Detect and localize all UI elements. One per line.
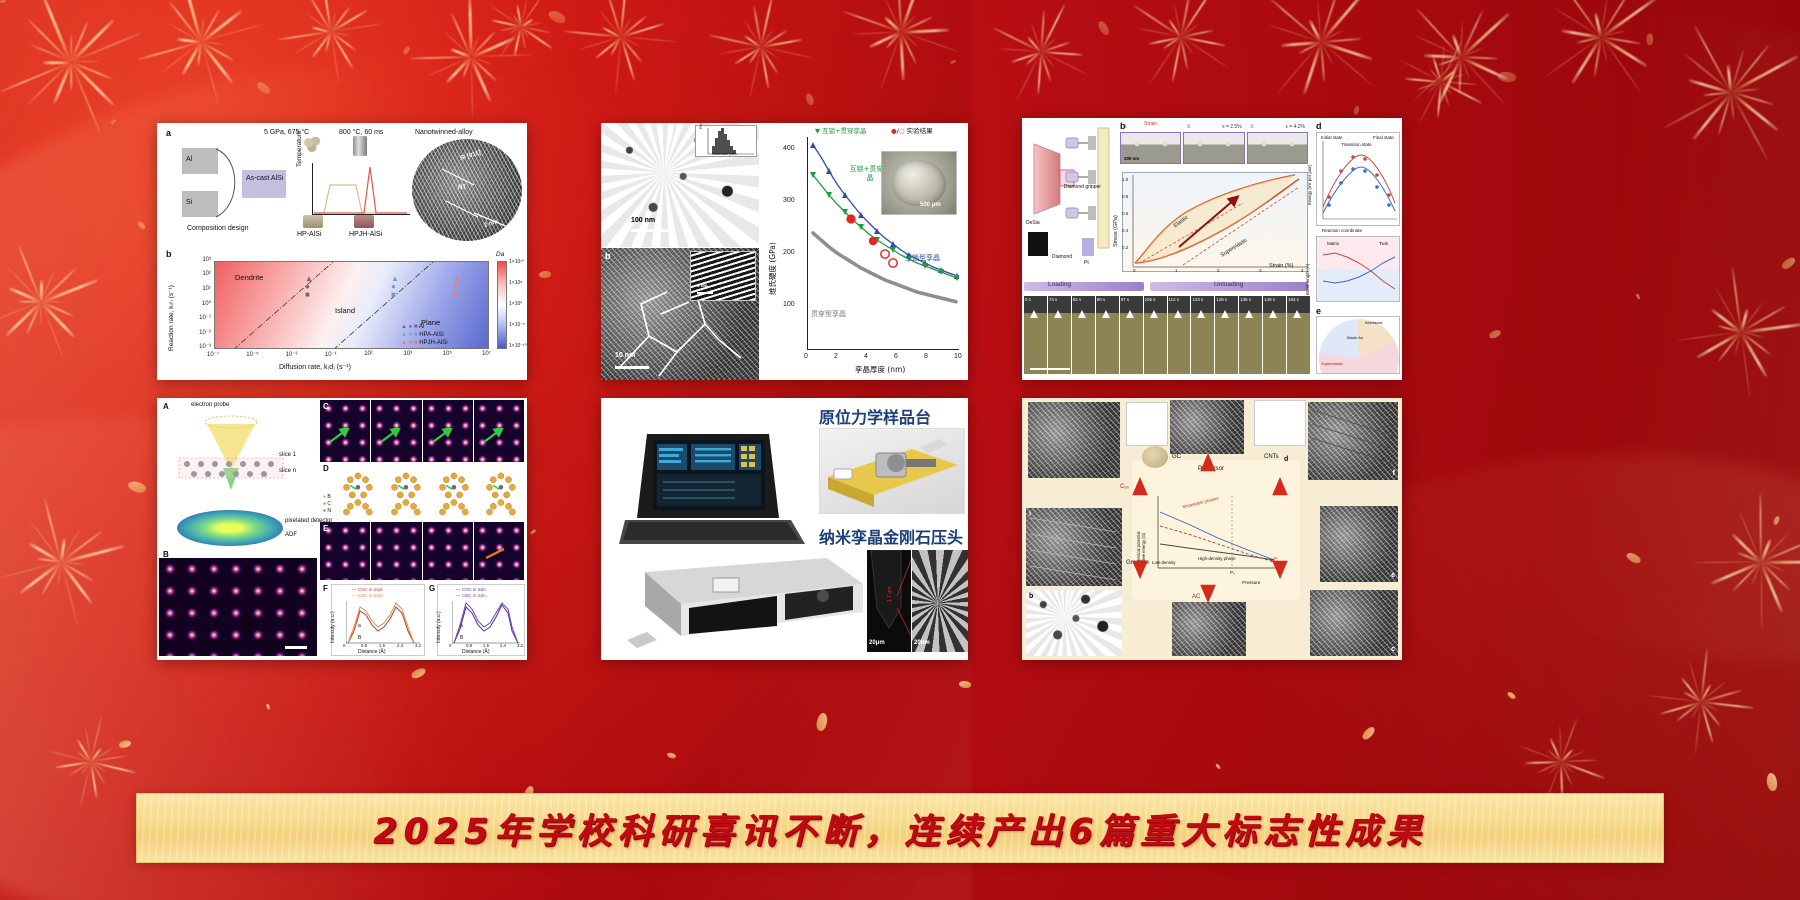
crystal-shape — [892, 160, 946, 206]
legend-N: N — [327, 508, 331, 514]
phase-map-ylabel: Reaction rate, k₍r₎ (s⁻¹) — [167, 285, 175, 351]
ss-yticks-tick: 0.8 — [1122, 194, 1128, 199]
inset-scalebar — [697, 292, 713, 294]
profile-F-ylabel: Intensity (a.u.) — [330, 611, 336, 643]
pm-xticks-tick: 10⁵ — [443, 351, 452, 357]
cyan-lines-overlay — [1026, 508, 1122, 586]
figure-tag-e: e — [1316, 306, 1321, 316]
panel-insitu-diamond-strain[interactable]: Diamond gripper Diamond DeSia Pt b ①200 … — [1022, 118, 1402, 380]
energy-xlabel: Reaction coordinate — [1322, 228, 1362, 233]
tem-image-grains: 100 nm Percentage Grain size — [601, 123, 759, 247]
micrograph-bottom-left: b — [1026, 590, 1122, 656]
label-diamond: Diamond — [1052, 254, 1072, 260]
pm-xticks-tick: 10⁷ — [482, 351, 491, 357]
hard-yticks-tick: 100 — [783, 301, 795, 308]
legend-hpa: ▲ ● ■ HPA-AlSi — [401, 332, 444, 338]
figure-tag-B: B — [163, 550, 169, 559]
label-matrix: Matrix — [1327, 241, 1339, 246]
label-slice-1: slice 1 — [279, 452, 296, 458]
label-desia: DeSia — [1026, 220, 1040, 226]
loading-arrow — [1024, 282, 1144, 291]
state-initial: Initial state — [1321, 135, 1343, 140]
g-xticks-tick: 0 — [449, 643, 451, 648]
time-frame: 149 s — [1263, 296, 1286, 374]
energy-curves — [1317, 133, 1401, 227]
micrograph-top-left — [1028, 402, 1120, 478]
legend-hpjh-text: HPJH-AlSi — [419, 340, 447, 346]
pixelated-detector-image — [177, 510, 283, 546]
strain-frame: ③ε = 4.2% — [1247, 132, 1308, 164]
time-frame: 123 s — [1191, 296, 1214, 374]
pm-xticks-tick: 10³ — [404, 351, 413, 357]
f-xticks-tick: 0.8 — [361, 643, 367, 648]
tem-scalebar-100nm — [631, 229, 669, 232]
ss-xticks-tick: 2 — [1217, 268, 1220, 273]
time-frame: 90 s — [1096, 296, 1119, 374]
sub-tag-f: f — [1393, 470, 1395, 477]
hp-alsi-pellet-icon — [303, 215, 323, 228]
annotation-F-a: a — [358, 623, 361, 629]
hp-alsi-label: HP-AlSi — [297, 231, 322, 238]
sem-surface-image: 20nm — [912, 550, 968, 652]
panel-insitu-mechanical-stage[interactable]: 原位力学样品台 纳米孪晶金刚石压头 — [601, 398, 968, 660]
micrograph-top-center — [1170, 400, 1244, 454]
polar-label-superelastic: Superelastic — [1321, 361, 1343, 366]
stage-photo — [819, 428, 965, 514]
title-insitu-stage: 原位力学样品台 — [819, 404, 931, 428]
molecule-cell-D — [480, 467, 524, 519]
label-as-cast-alsi: As-cast AlSi — [246, 174, 283, 183]
profile-chart-G: — CVC in Sim. — CBC in Sim. a B Intensit… — [437, 584, 525, 656]
time-frame: 74 s — [1048, 296, 1071, 374]
cb-ticks-tick: 1×10⁻⁵ — [509, 322, 525, 328]
strain-frame-scale: 200 nm — [1124, 156, 1139, 161]
temperature-profile-curves — [312, 163, 412, 215]
panel-nanotwin-hardness[interactable]: 100 nm Percentage Grain size — [601, 123, 968, 380]
profile-F-xlabel: Distance (Å) — [358, 649, 386, 655]
strain-frame: ①200 nm — [1120, 132, 1181, 164]
lattice-cell-C — [371, 400, 421, 462]
lattice-cell-E — [423, 522, 473, 580]
transform-arrows — [1118, 454, 1308, 604]
ss-xticks-tick: 4 — [1301, 268, 1304, 273]
marker-cluster-hpjh: ▲●■ — [453, 275, 461, 299]
sub-tag-d: d — [1284, 456, 1288, 463]
pm-xticks-tick: 10¹ — [364, 351, 373, 357]
box-al: Al — [182, 148, 218, 174]
time-frame: 112 s — [1168, 296, 1191, 374]
polar-label-interfacial: Interfacial — [1365, 320, 1382, 325]
state-final: Final state — [1373, 135, 1394, 140]
figure-tag-E: E — [323, 524, 328, 533]
legend-al: ▲ ● ■ Al — [401, 324, 424, 330]
legend-red-entry: ●/○ 实验结果 — [891, 125, 933, 135]
pm-yticks-tick: 10⁻² — [193, 329, 211, 336]
strain-frame-row: ①200 nm②ε = 2.5%③ε = 4.2%Strain — [1120, 132, 1310, 164]
powder-icon — [302, 137, 324, 153]
pm-yticks-tick: 10¹ — [193, 286, 211, 292]
label-electron-probe: electron probe — [191, 402, 229, 408]
ss-xticks-tick: 0 — [1133, 268, 1136, 273]
ss-xticks-tick: 3 — [1259, 268, 1262, 273]
label-loading: Loading — [1048, 281, 1071, 288]
label-twin: Twin — [1379, 241, 1388, 246]
marker-cluster-al: ▲●■ — [305, 275, 313, 299]
lattice-row-E — [320, 522, 524, 580]
figure-tag-D: D — [323, 464, 329, 473]
legend-green-text: 互锁+贯穿孪晶 — [822, 127, 866, 135]
sub-tag-i: i — [1029, 511, 1031, 518]
hpjh-alsi-label: HPJH-AlSi — [349, 231, 382, 238]
pm-xticks-tick: 10⁻¹ — [325, 351, 337, 358]
hard-yticks-tick: 200 — [783, 249, 795, 256]
grain-size-histogram-inset: Percentage Grain size (nm) — [695, 125, 757, 157]
ss-yticks-tick: 0.2 — [1122, 245, 1128, 250]
label-diamond-gripper: Diamond gripper — [1064, 184, 1101, 190]
svg-text:1.7 μm: 1.7 μm — [887, 587, 893, 602]
legend-G-cbc: CBC in Sim. — [462, 593, 487, 598]
legend-hpjh: ▲ ● ■ HPJH-AlSi — [401, 340, 448, 346]
ss-yticks-tick: 0.6 — [1122, 211, 1128, 216]
figure-tag-b: b — [166, 249, 172, 259]
time-frame: 128 s — [1215, 296, 1238, 374]
cb-ticks-tick: 1×10⁵ — [509, 280, 522, 286]
hrtem-scale-10nm-label: 10 nm — [615, 352, 635, 359]
box-si: Si — [182, 191, 218, 217]
red-lines-overlay-tr — [1308, 402, 1398, 480]
chart-ylabel: 维氏硬度 (GPa) — [767, 242, 778, 295]
molecule-row-D — [337, 464, 524, 522]
f-xticks-tick: 3.2 — [415, 643, 421, 648]
strain-frame: ②ε = 2.5% — [1183, 132, 1244, 164]
phase-map-xlabel: Diffusion rate, k₍d₎ (s⁻¹) — [279, 363, 351, 371]
profile-G-ylabel: Intensity (a.u.) — [436, 611, 442, 643]
figure-tag-d: d — [1316, 121, 1322, 131]
annotation-G-a: a — [460, 623, 463, 629]
time-frame: 97 s — [1120, 296, 1143, 374]
hard-xticks-tick: 2 — [834, 353, 838, 360]
lattice-row-C — [320, 400, 524, 462]
legend-green-entry: ▼ 互锁+贯穿孪晶 — [815, 125, 867, 135]
phase-map-plot: Dendrite Island Plane ▲●■ ▲●■ ▲●■ ▲ ● ■ … — [214, 261, 489, 349]
f-xticks-tick: 2.4 — [397, 643, 403, 648]
banner-text: 2025年学校科研喜讯不断，连续产出6篇重大标志性成果 — [373, 803, 1427, 854]
hpjh-alsi-pellet-icon — [354, 215, 374, 228]
pm-yticks-tick: 10⁻³ — [193, 343, 211, 350]
ss-xticks-tick: 1 — [1175, 268, 1178, 273]
inset-scale-label: 5 nm — [697, 283, 708, 288]
micrograph-right: e — [1320, 506, 1398, 582]
region-island: Island — [335, 306, 355, 315]
figure-tag-a: a — [166, 128, 171, 138]
figure-tag-F: F — [323, 584, 328, 593]
stress-strain-ylabel: Stress (GPa) — [1113, 215, 1119, 247]
research-figure-collage: a 5 GPa, 675 °C 800 °C, 60 ms Nanotwinne… — [0, 0, 1800, 900]
title-nanotwin-indenter: 纳米孪晶金刚石压头 — [819, 524, 963, 548]
histogram-xlabel: Grain size (nm) — [712, 152, 737, 156]
legend-G-cvc: CVC in Sim. — [462, 587, 487, 592]
annotation-G-B: B — [460, 635, 463, 641]
sub-tag-e: e — [1391, 572, 1395, 579]
g-xticks-tick: 0.8 — [466, 643, 472, 648]
label-adf: ADF — [285, 532, 297, 538]
label-pt: Pt — [1084, 260, 1089, 266]
sem-indenter-image: 1.7 μm 20μm — [867, 550, 911, 652]
legend-C: C — [327, 501, 331, 507]
instrument-illustration — [627, 548, 867, 654]
time-frame: 135 s — [1239, 296, 1262, 374]
polar-label-blade: Blade Au — [1347, 335, 1363, 340]
molecule-legend: ● B ● C ● N — [323, 494, 331, 515]
bond-length-ylabel: Bond length (Å) — [1305, 264, 1310, 295]
chart-x-axis — [807, 349, 959, 350]
micrograph-bottom-right: c — [1310, 590, 1398, 656]
lattice-B-scalebar — [285, 646, 307, 649]
stage-photo-drawing — [820, 429, 965, 514]
pm-yticks-tick: 10⁻¹ — [193, 314, 211, 321]
stress-strain-xlabel: Strain (%) — [1269, 263, 1293, 269]
legend-hpa-text: HPA-AlSi — [419, 332, 444, 338]
micrograph-bottom-center — [1172, 602, 1246, 656]
time-frame: 82 s — [1072, 296, 1095, 374]
lattice-image-B — [159, 558, 317, 656]
hrtem-scalebar-10nm — [615, 366, 649, 369]
gripper-schematic-drawing — [1024, 120, 1116, 270]
f-xticks-tick: 1.6 — [379, 643, 385, 648]
region-dendrite: Dendrite — [235, 273, 263, 282]
profile-chart-F: — CVC in expt. — CBC in expt. a B Intens… — [331, 584, 425, 656]
hard-xticks-tick: 4 — [864, 353, 868, 360]
time-series-frames: 0 s74 s82 s90 s97 s105 s112 s123 s128 s1… — [1024, 296, 1310, 374]
loading-unloading-bar: Loading Unloading — [1024, 278, 1310, 294]
ss-yticks-tick: 0.4 — [1122, 228, 1128, 233]
g-xticks-tick: 3.2 — [517, 643, 523, 648]
label-si: Si — [186, 199, 192, 206]
profile-G-xlabel: Distance (Å) — [462, 649, 490, 655]
strain-arrow-label: Strain — [1144, 121, 1157, 127]
chart-xlabel: 孪晶厚度 (nm) — [855, 364, 905, 375]
bond-length-curves — [1317, 237, 1401, 303]
time-frame: 0 s — [1024, 296, 1047, 374]
annotation-F-B: B — [358, 635, 361, 641]
panel-stem-cvc-cbc[interactable]: A electron probe slice 1 slice n pixelat… — [157, 398, 527, 660]
pm-yticks-tick: 10⁰ — [193, 300, 211, 307]
g-xticks-tick: 1.6 — [483, 643, 489, 648]
pm-xticks-tick: 10⁻³ — [286, 351, 298, 358]
figure-tag-C: C — [323, 402, 329, 411]
molecule-cell-D — [385, 467, 429, 519]
annotation-blue: 互锁型孪晶 — [905, 253, 940, 263]
legend-al-text: Al — [419, 324, 424, 330]
phase-map-colorbar — [497, 261, 507, 349]
stress-strain-curve — [1123, 173, 1309, 273]
legend-F-cvc: CVC in expt. — [358, 587, 384, 592]
panel-carbon-phase-transform[interactable]: f i e b c a — [1022, 398, 1402, 660]
hrtem-circle-image: 2 nm Si [011] NT — [412, 139, 522, 241]
hrtem-image-twins: b 10 nm 5 nm — [601, 248, 759, 380]
molecule-cell-D — [433, 467, 477, 519]
lattice-cell-C — [423, 400, 473, 462]
cb-ticks-tick: 1×10⁻¹⁰ — [509, 343, 527, 349]
indenter-silhouette: 1.7 μm — [867, 550, 911, 652]
pm-yticks-tick: 10³ — [193, 257, 211, 263]
stem-probe-schematic — [175, 412, 291, 504]
stress-strain-chart: 1.00.80.60.40.2 01234 Stress (GPa) Strai… — [1122, 172, 1308, 272]
sub-tag-b: b — [1029, 593, 1033, 600]
label-unloading: Unloading — [1214, 281, 1243, 288]
tem-scale-100nm-label: 100 nm — [631, 217, 655, 224]
cb-ticks-tick: 1×10⁰ — [509, 301, 522, 307]
pm-xticks-tick: 10⁻⁷ — [207, 351, 219, 358]
molecule-cell-D — [337, 467, 381, 519]
panel-alsi-nanotwinned[interactable]: a 5 GPa, 675 °C 800 °C, 60 ms Nanotwinne… — [157, 123, 527, 380]
energy-barrier-chart: Initial state Transition state Final sta… — [1316, 132, 1400, 226]
cb-ticks-tick: 1×10¹⁰ — [509, 259, 524, 265]
hardness-vs-twin-thickness-chart: 400300200100 0246810 维氏硬度 (GPa) 孪晶厚度 (nm… — [763, 123, 968, 380]
f-xticks-tick: 0 — [343, 643, 345, 648]
histogram-ylabel: Percentage — [699, 123, 703, 129]
composition-design-caption: Composition design — [187, 225, 248, 232]
label-al: Al — [186, 156, 192, 163]
hard-xticks-tick: 8 — [924, 353, 928, 360]
time-frame: 163 s — [1287, 296, 1310, 374]
annotation-gray: 贯穿型孪晶 — [811, 309, 846, 319]
cnts-inset — [1254, 400, 1306, 446]
lattice-cell-E — [371, 522, 421, 580]
legend-red-text: 实验结果 — [907, 127, 933, 135]
energy-ylabel: Energy (eV per pair) — [1307, 164, 1312, 205]
g-xticks-tick: 2.4 — [500, 643, 506, 648]
temperature-axis-label: Temperature — [296, 131, 303, 168]
nanotwinned-alloy-title: Nanotwinned-alloy — [415, 129, 473, 136]
time-frame: 105 s — [1144, 296, 1167, 374]
legend-F: — CVC in expt. — CBC in expt. — [352, 587, 384, 599]
sub-tag-c: c — [1391, 646, 1395, 653]
sem-scale-20um: 20μm — [869, 640, 885, 646]
micrograph-top-right: f — [1308, 402, 1398, 480]
lattice-cell-C — [474, 400, 524, 462]
figure-tag-G: G — [429, 584, 435, 593]
hard-yticks-tick: 400 — [783, 145, 795, 152]
crystal-photo-inset: 500 μm — [881, 151, 957, 215]
hard-xticks-tick: 6 — [894, 353, 898, 360]
hard-xticks-tick: 0 — [804, 353, 808, 360]
pm-yticks-tick: 10² — [193, 271, 211, 277]
condition-2-label: 800 °C, 60 ms — [339, 129, 383, 136]
figure-tag-A: A — [163, 402, 169, 411]
sample-capsule-icon — [353, 136, 367, 156]
legend-G: — CVC in Sim. — CBC in Sim. — [456, 587, 487, 599]
lattice-cell-E — [474, 522, 524, 580]
legend-F-cbc: CBC in expt. — [358, 593, 384, 598]
ss-yticks-tick: 1.0 — [1122, 177, 1128, 182]
marker-cluster-hpa: ▲●■ — [391, 275, 399, 299]
box-as-cast-alsi: As-cast AlSi — [242, 170, 286, 198]
hard-yticks-tick: 300 — [783, 197, 795, 204]
crystal-inset-scale: 500 μm — [920, 202, 941, 208]
celebration-banner: 2025年学校科研喜讯不断，连续产出6篇重大标志性成果 — [136, 793, 1664, 863]
diamond-gripper-schematic: Diamond gripper Diamond DeSia Pt — [1024, 120, 1116, 270]
precursor-inset — [1126, 402, 1168, 446]
sem-scale-20nm: 20nm — [914, 640, 930, 646]
polar-diagram: Interfacial Blade Au Superelastic — [1316, 316, 1400, 374]
pm-xticks-tick: 10⁻⁵ — [246, 351, 258, 358]
time-frames-scalebar — [1030, 368, 1070, 370]
legend-B: B — [327, 494, 330, 500]
twin-lamellae-inset: 5 nm — [690, 251, 756, 301]
state-transition: Transition state — [1341, 142, 1372, 147]
bond-length-chart: Matrix Twin Bond length (Å) — [1316, 236, 1400, 302]
label-slice-n: slice n — [279, 468, 296, 474]
hard-xticks-tick: 10 — [954, 353, 962, 360]
hrtem-twin-markers — [412, 139, 522, 241]
colorbar-title: Da — [496, 251, 504, 258]
micrograph-left: i — [1026, 508, 1122, 586]
